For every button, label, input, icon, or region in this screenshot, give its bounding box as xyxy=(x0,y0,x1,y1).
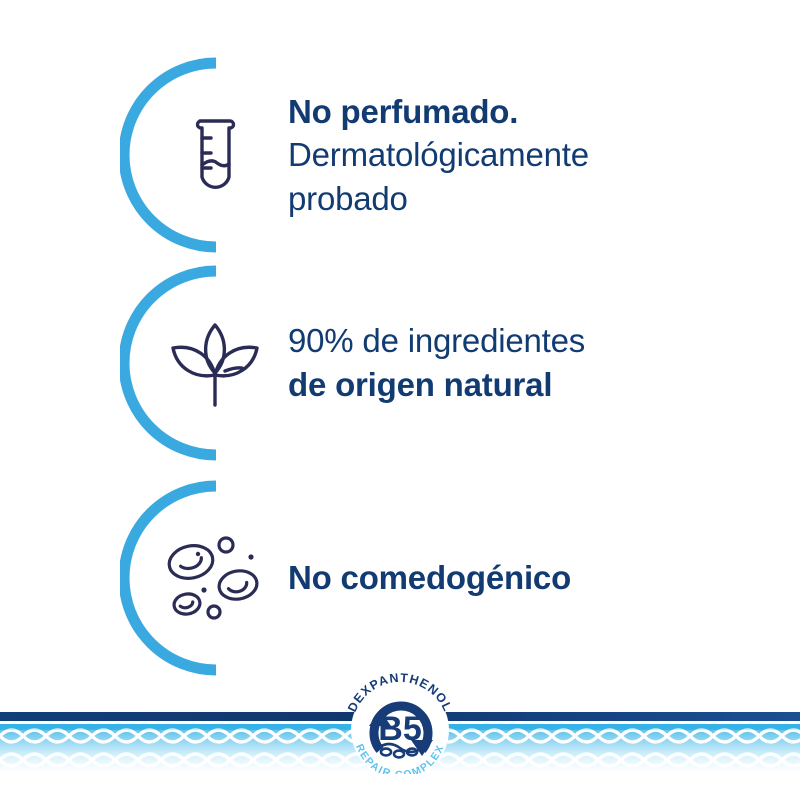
feature-row: 90% de ingredientes de origen natural xyxy=(0,263,800,463)
feature-line: 90% de ingredientes xyxy=(288,319,708,363)
feature-line: No comedogénico xyxy=(288,556,708,600)
pores-bubbles-icon xyxy=(155,518,275,638)
badge-center-text: B5 xyxy=(378,710,421,748)
leaf-plant-icon xyxy=(155,303,275,423)
promo-panel: No perfumado. Dermatológicamente probado xyxy=(0,0,800,800)
feature-line: probado xyxy=(288,177,708,221)
dexpanthenol-b5-repair-complex-badge: B5 DEXPANTHENOL REPAIR COMPLEX xyxy=(338,664,462,774)
feature-line: No perfumado. xyxy=(288,90,708,134)
feature-line: Dermatológicamente xyxy=(288,133,708,177)
feature-text: No comedogénico xyxy=(288,478,708,678)
feature-text: No perfumado. Dermatológicamente probado xyxy=(288,55,708,255)
test-tube-icon xyxy=(155,95,275,215)
feature-text: 90% de ingredientes de origen natural xyxy=(288,263,708,463)
feature-row: No comedogénico xyxy=(0,478,800,678)
feature-line: de origen natural xyxy=(288,363,708,407)
feature-row: No perfumado. Dermatológicamente probado xyxy=(0,55,800,255)
